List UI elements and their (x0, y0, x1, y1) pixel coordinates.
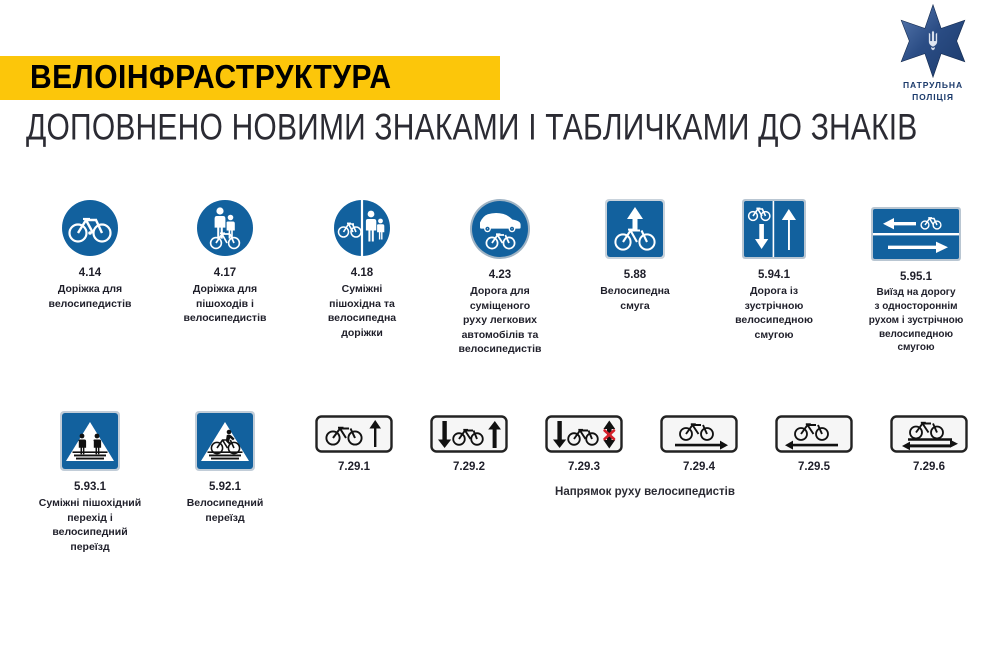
blue-square-bicycle-crossing-icon (194, 410, 256, 472)
plate-cell-7-29-3: 7.29.3 (535, 415, 633, 473)
blue-rect-oneway-exit-contraflow-bike-icon (870, 206, 962, 262)
eight-point-star-icon (896, 4, 970, 78)
sign-description: Велосипедний переїзд (163, 496, 287, 525)
page-title: ВЕЛОІНФРАСТРУКТУРА (0, 59, 392, 97)
sign-cell-4-17: 4.17 Доріжка для пішоходів і велосипедис… (163, 198, 287, 326)
sign-description: Доріжка для велосипедистів (28, 282, 152, 311)
page-subtitle: ДОПОВНЕНО НОВИМИ ЗНАКАМИ І ТАБЛИЧКАМИ ДО… (26, 108, 918, 149)
plate-bicycle-double-horizontal-arrow-icon (890, 415, 968, 453)
plate-cell-7-29-1: 7.29.1 (305, 415, 403, 473)
plate-cell-7-29-4: 7.29.4 (650, 415, 748, 473)
sign-description: Суміжні пішохідний перехід і велосипедни… (28, 496, 152, 554)
plate-bicycle-right-arrow-icon (660, 415, 738, 453)
blue-circle-pedestrians-and-bicycle-icon (195, 198, 255, 258)
logo-line-2: ПОЛІЦІЯ (878, 92, 988, 102)
plate-code: 7.29.1 (305, 461, 403, 473)
sign-cell-4-14: 4.14 Доріжка для велосипедистів (28, 198, 152, 311)
sign-description: Суміжні пішохідна та велосипедна доріжки (300, 282, 424, 340)
sign-code: 4.14 (28, 267, 152, 280)
plate-code: 7.29.2 (420, 461, 518, 473)
blue-square-up-arrow-bicycle-icon (604, 198, 666, 260)
plate-bicycle-up-arrow-icon (315, 415, 393, 453)
plate-code: 7.29.3 (535, 461, 633, 473)
plate-cell-7-29-2: 7.29.2 (420, 415, 518, 473)
title-band: ВЕЛОІНФРАСТРУКТУРА (0, 56, 500, 100)
sign-code: 5.93.1 (28, 481, 152, 494)
sign-code: 5.88 (573, 269, 697, 282)
blue-circle-split-bicycle-pedestrian-icon (332, 198, 392, 258)
sign-cell-4-23: 4.23 Дорога для суміщеного руху легкових… (437, 198, 563, 357)
sign-cell-5-88: 5.88 Велосипедна смуга (573, 198, 697, 313)
plate-code: 7.29.5 (765, 461, 863, 473)
plate-bicycle-left-arrow-icon (775, 415, 853, 453)
plate-cell-7-29-6: 7.29.6 (880, 415, 978, 473)
plate-code: 7.29.4 (650, 461, 748, 473)
sign-cell-5-93-1: 5.93.1 Суміжні пішохідний перехід і вело… (28, 410, 152, 554)
blue-circle-bicycle-icon (60, 198, 120, 258)
sign-cell-5-95-1: 5.95.1 Виїзд на дорогу з одностороннім р… (848, 198, 984, 355)
sign-cell-5-94-1: 5.94.1 Дорога із зустрічною велосипедною… (710, 198, 838, 342)
plate-code: 7.29.6 (880, 461, 978, 473)
sign-description: Велосипедна смуга (573, 284, 697, 313)
blue-circle-car-and-bicycle-icon (469, 198, 531, 260)
plate-down-arrow-bicycle-double-arrow-red-x-icon (545, 415, 623, 453)
sign-code: 5.94.1 (710, 269, 838, 282)
sign-code: 4.23 (437, 269, 563, 282)
sign-cell-4-18: 4.18 Суміжні пішохідна та велосипедна до… (300, 198, 424, 340)
plate-down-arrow-bicycle-up-arrow-icon (430, 415, 508, 453)
patrol-police-logo: ПАТРУЛЬНА ПОЛІЦІЯ (878, 4, 988, 104)
sign-description: Дорога із зустрічною велосипедною смугою (710, 284, 838, 342)
sign-description: Виїзд на дорогу з одностороннім рухом і … (848, 286, 984, 355)
sign-description: Дорога для суміщеного руху легкових авто… (437, 284, 563, 356)
blue-square-contraflow-bike-lane-icon (741, 198, 807, 260)
plates-caption: Напрямок руху велосипедистів (455, 486, 835, 498)
blue-square-pedestrian-and-bicycle-crossing-icon (59, 410, 121, 472)
sign-code: 5.95.1 (848, 271, 984, 284)
sign-code: 4.17 (163, 267, 287, 280)
sign-description: Доріжка для пішоходів і велосипедистів (163, 282, 287, 325)
logo-line-1: ПАТРУЛЬНА (878, 80, 988, 90)
plate-cell-7-29-5: 7.29.5 (765, 415, 863, 473)
sign-code: 4.18 (300, 267, 424, 280)
sign-code: 5.92.1 (163, 481, 287, 494)
page-header: ВЕЛОІНФРАСТРУКТУРА ДОПОВНЕНО НОВИМИ ЗНАК… (0, 0, 1000, 165)
sign-cell-5-92-1: 5.92.1 Велосипедний переїзд (163, 410, 287, 525)
